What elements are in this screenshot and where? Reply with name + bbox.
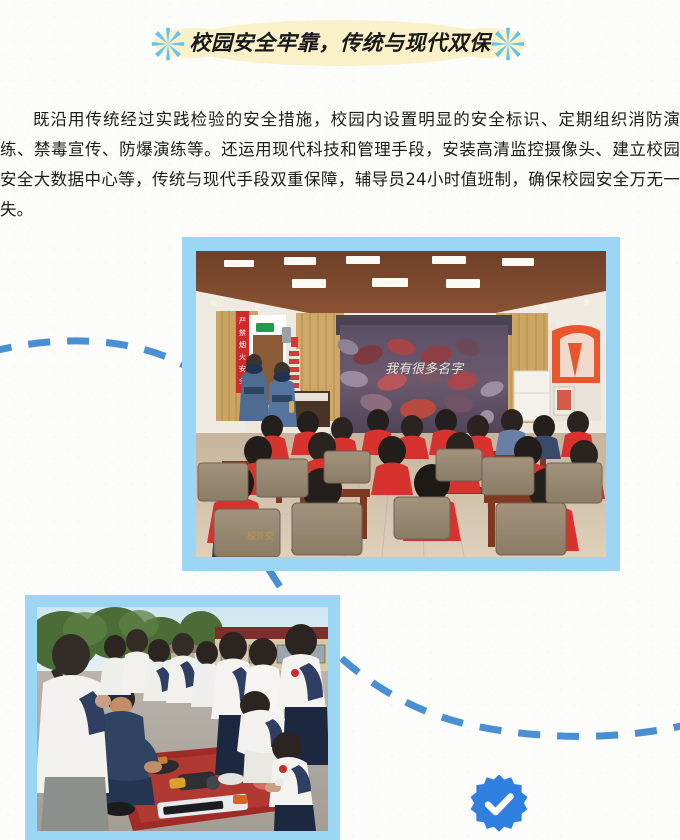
photo-frame-rescue-demo — [25, 595, 340, 840]
svg-text:安: 安 — [239, 364, 246, 373]
svg-text:火: 火 — [239, 353, 246, 361]
svg-text:严: 严 — [239, 317, 246, 325]
page-title: 校园安全牢靠，传统与现代双保 — [150, 26, 530, 60]
photo-classroom-drug-awareness-lecture: 严禁 烟火 安全 — [196, 251, 606, 557]
header-banner: 校园安全牢靠，传统与现代双保 — [0, 6, 680, 74]
photo-outdoor-rescue-equipment-demo — [37, 607, 328, 831]
body-paragraph: 既沿用传统经过实践检验的安全措施，校园内设置明显的安全标识、定期组织消防演练、禁… — [0, 105, 680, 225]
page-root: 校园安全牢靠，传统与现代双保 既沿用传统经过实践检验的安全措施，校园内设置明显的… — [0, 0, 680, 840]
svg-text:烟: 烟 — [239, 340, 246, 349]
svg-text:我有很多名字: 我有很多名字 — [385, 361, 465, 377]
verified-check-badge-icon — [470, 775, 528, 833]
eight-point-starburst-icon — [151, 27, 185, 61]
svg-text:禁: 禁 — [239, 329, 246, 337]
eight-point-starburst-icon — [491, 27, 525, 61]
photo-frame-classroom-lecture: 严禁 烟火 安全 — [182, 237, 620, 571]
svg-text:校外交: 校外交 — [247, 530, 274, 542]
